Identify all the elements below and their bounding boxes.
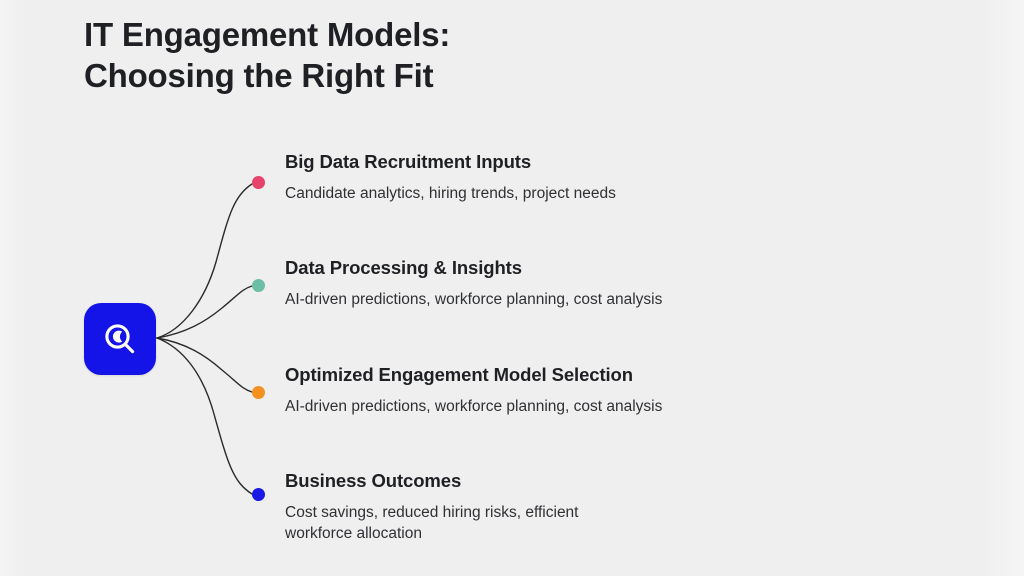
connector-path-4 bbox=[157, 338, 252, 494]
branch-item-3: Optimized Engagement Model Selection AI-… bbox=[285, 363, 925, 417]
branch-item-4: Business Outcomes Cost savings, reduced … bbox=[285, 469, 925, 544]
branch-heading-1: Big Data Recruitment Inputs bbox=[285, 150, 925, 174]
connector-path-2 bbox=[157, 286, 252, 338]
branch-dot-orange bbox=[252, 386, 265, 399]
branch-description-3: AI-driven predictions, workforce plannin… bbox=[285, 396, 925, 417]
branch-heading-4: Business Outcomes bbox=[285, 469, 925, 493]
branch-dot-teal bbox=[252, 279, 265, 292]
branch-heading-2: Data Processing & Insights bbox=[285, 256, 925, 280]
branch-description-4: Cost savings, reduced hiring risks, effi… bbox=[285, 502, 925, 544]
branch-description-1: Candidate analytics, hiring trends, proj… bbox=[285, 183, 925, 204]
branch-dot-pink bbox=[252, 176, 265, 189]
slide-canvas: IT Engagement Models: Choosing the Right… bbox=[0, 0, 1024, 576]
mindmap-diagram: Big Data Recruitment Inputs Candidate an… bbox=[0, 0, 1024, 576]
magnifier-moon-icon bbox=[100, 319, 140, 359]
branch-description-2: AI-driven predictions, workforce plannin… bbox=[285, 289, 925, 310]
branch-item-2: Data Processing & Insights AI-driven pre… bbox=[285, 256, 925, 310]
branch-dot-blue bbox=[252, 488, 265, 501]
hub-icon-tile[interactable] bbox=[84, 303, 156, 375]
branch-item-1: Big Data Recruitment Inputs Candidate an… bbox=[285, 150, 925, 204]
connector-path-1 bbox=[157, 184, 252, 338]
branch-heading-3: Optimized Engagement Model Selection bbox=[285, 363, 925, 387]
